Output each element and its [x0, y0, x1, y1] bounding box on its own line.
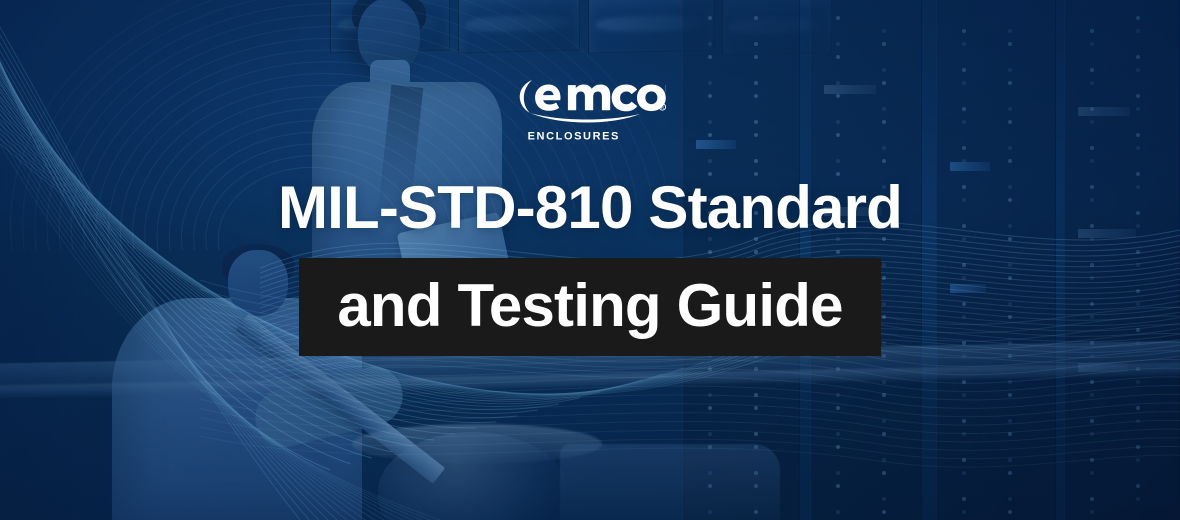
emcor-tagline: ENCLOSURES	[514, 128, 666, 143]
emcor-swoosh-logo: R	[514, 72, 666, 126]
headline-line-2-highlighted: and Testing Guide	[299, 258, 880, 356]
tagline-text: ENCLOSURES	[528, 131, 620, 143]
hero-banner: R ENCLOSURES MIL-STD-810 Standard and Te…	[0, 0, 1180, 520]
emcor-logo[interactable]: R ENCLOSURES	[0, 72, 1180, 143]
headline-line-1: MIL-STD-810 Standard	[0, 176, 1180, 240]
svg-text:R: R	[661, 105, 664, 110]
